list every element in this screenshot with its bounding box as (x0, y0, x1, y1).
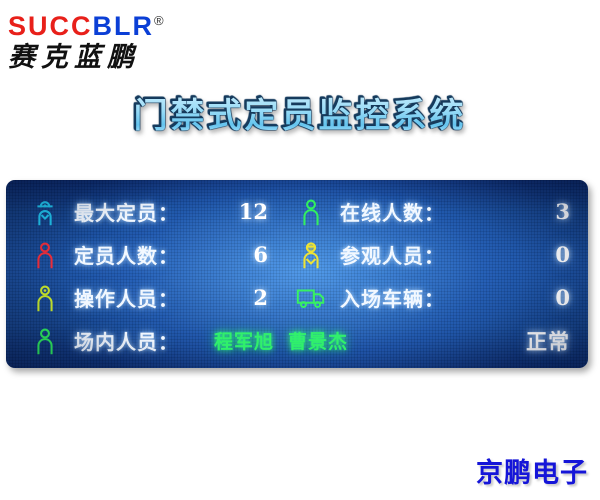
status-badge: 正常 (526, 326, 570, 356)
company-logo: SUCCBLR® 赛克蓝鹏 (8, 6, 228, 72)
led-row: 操作人员： 2 入场车辆： 0 (6, 280, 588, 316)
led-label: 定员人数： (74, 240, 179, 269)
logo-latin-text: SUCCBLR® (8, 6, 228, 41)
person-yellow-icon (28, 282, 62, 314)
truck-icon (294, 282, 328, 314)
onsite-name: 曹景杰 (288, 331, 348, 353)
led-cell-assigned-count: 定员人数： 6 (6, 239, 292, 271)
led-row-occupants: 场内人员： 程军旭曹景杰 正常 (6, 323, 588, 359)
logo-blr-text: BLR (93, 11, 155, 41)
registered-trademark-icon: ® (154, 13, 164, 28)
led-label: 入场车辆： (340, 283, 445, 312)
led-label: 最大定员： (74, 197, 179, 226)
led-cell-vehicle-count: 入场车辆： 0 (292, 282, 588, 314)
led-row: 定员人数： 6 参观人员： 0 (6, 237, 588, 273)
person-visitor-icon (294, 239, 328, 271)
led-value: 12 (238, 199, 268, 224)
led-value: 0 (550, 285, 570, 310)
logo-succ-text: SUCC (8, 11, 93, 41)
led-cell-visitor-count: 参观人员： 0 (292, 239, 588, 271)
person-hardhat-icon (28, 196, 62, 228)
logo-chinese-text: 赛克蓝鹏 (8, 42, 228, 74)
onsite-names-list: 程军旭曹景杰 (214, 327, 348, 354)
person-green-icon (294, 196, 328, 228)
led-label: 在线人数： (340, 197, 445, 226)
led-label: 场内人员： (74, 326, 179, 355)
led-value: 2 (238, 285, 268, 310)
led-row: 最大定员： 12 在线人数： 3 (6, 194, 588, 230)
led-content-rows: 最大定员： 12 在线人数： 3 (6, 188, 588, 362)
led-display-panel: 最大定员： 12 在线人数： 3 (6, 180, 588, 368)
page-title: 门禁式定员监控系统 (0, 88, 600, 137)
led-label: 参观人员： (340, 240, 445, 269)
led-cell-operator-count: 操作人员： 2 (6, 282, 292, 314)
led-value: 3 (550, 199, 570, 224)
onsite-name: 程军旭 (214, 331, 274, 353)
led-cell-max-capacity: 最大定员： 12 (6, 196, 292, 228)
person-onsite-icon (28, 325, 62, 357)
footer-brand-text: 京鹏电子 (476, 451, 588, 490)
led-label: 操作人员： (74, 283, 179, 312)
led-value: 0 (550, 242, 570, 267)
led-value: 6 (238, 242, 268, 267)
led-cell-online-count: 在线人数： 3 (292, 196, 588, 228)
person-red-icon (28, 239, 62, 271)
led-cell-onsite-personnel: 场内人员： 程军旭曹景杰 正常 (6, 325, 588, 357)
